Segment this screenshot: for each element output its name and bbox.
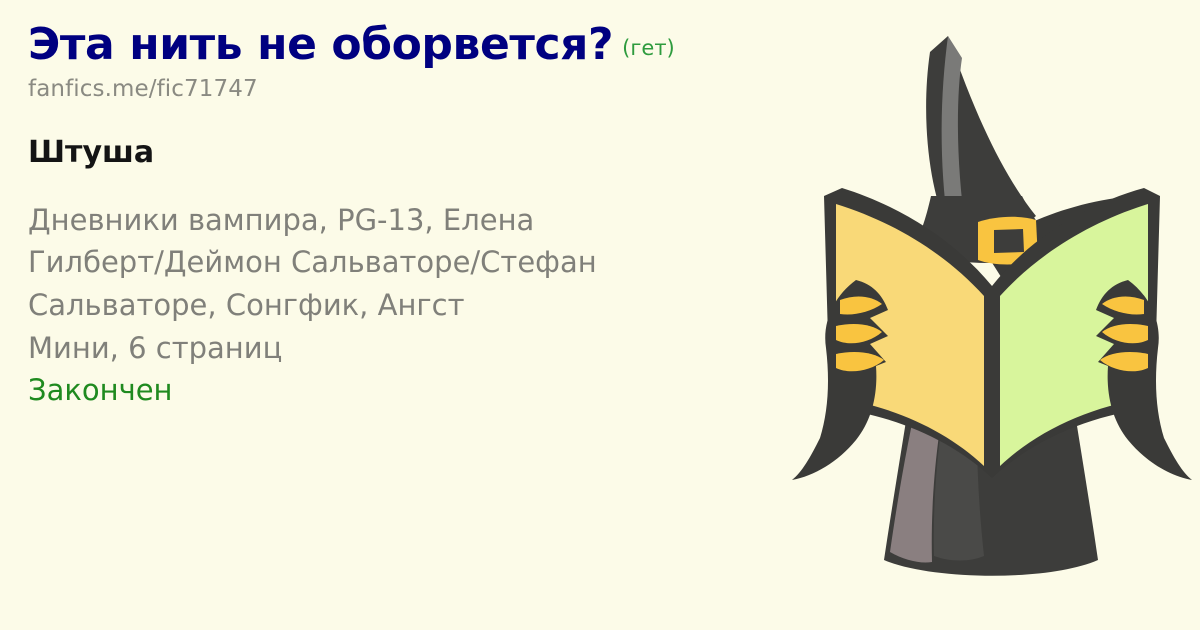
left-hand-finger-1 — [840, 297, 882, 315]
book-outline-shape — [824, 188, 1160, 478]
hat-highlight-shape — [942, 36, 966, 232]
hat-brim-right-shape — [984, 198, 1126, 288]
hat-buckle-hole-shape — [994, 229, 1024, 253]
wizard-reading-book-illustration — [780, 0, 1200, 630]
title-line: Эта нить не оборвется?(гет) — [28, 22, 838, 69]
fanfic-preview-card: Эта нить не оборвется?(гет) fanfics.me/f… — [0, 0, 1200, 630]
meta-line: Дневники вампира, PG-13, Елена — [28, 199, 828, 242]
robe-body-shape — [884, 330, 1098, 576]
right-hand-finger-2 — [1102, 324, 1148, 343]
open-book-group — [824, 188, 1160, 478]
hat-buckle-shape — [978, 217, 1038, 265]
hat-cone-lower-shape — [910, 196, 1056, 263]
left-hand-finger-3 — [836, 352, 884, 371]
robe-highlight-shape — [890, 340, 958, 563]
story-meta-block: Дневники вампира, PG-13, Елена Гилберт/Д… — [28, 199, 828, 412]
robe-neck-notch-shape — [966, 300, 1024, 356]
wizard-robe-group — [884, 300, 1098, 576]
right-hand-group — [1096, 280, 1192, 480]
right-hand-shape — [1096, 280, 1192, 480]
robe-shadow-shape — [934, 342, 984, 561]
book-gutter-line — [989, 290, 995, 474]
meta-line: Гилберт/Деймон Сальваторе/Стефан — [28, 241, 828, 284]
story-category-label: (гет) — [622, 36, 675, 60]
right-hand-finger-3 — [1100, 352, 1148, 371]
story-url[interactable]: fanfics.me/fic71747 — [28, 76, 838, 102]
meta-line: Сальваторе, Сонгфик, Ангст — [28, 284, 828, 327]
right-hand-finger-1 — [1102, 297, 1144, 315]
wizard-hat-group — [910, 36, 1056, 263]
hat-buckle-group — [978, 217, 1038, 265]
author-name[interactable]: Штуша — [28, 135, 838, 170]
wizard-illustration-svg — [780, 0, 1200, 630]
page-title: Эта нить не оборвется? — [28, 19, 613, 70]
meta-line: Мини, 6 страниц — [28, 327, 828, 370]
status-badge: Закончен — [28, 369, 828, 412]
hat-body-shape — [926, 36, 1036, 237]
left-hand-finger-2 — [836, 324, 882, 343]
hat-brim-left-shape — [834, 200, 966, 300]
card-text-column: Эта нить не оборвется?(гет) fanfics.me/f… — [28, 22, 838, 412]
hat-brim-group — [834, 198, 1126, 300]
book-page-left — [836, 204, 984, 466]
book-page-right — [1000, 204, 1148, 466]
